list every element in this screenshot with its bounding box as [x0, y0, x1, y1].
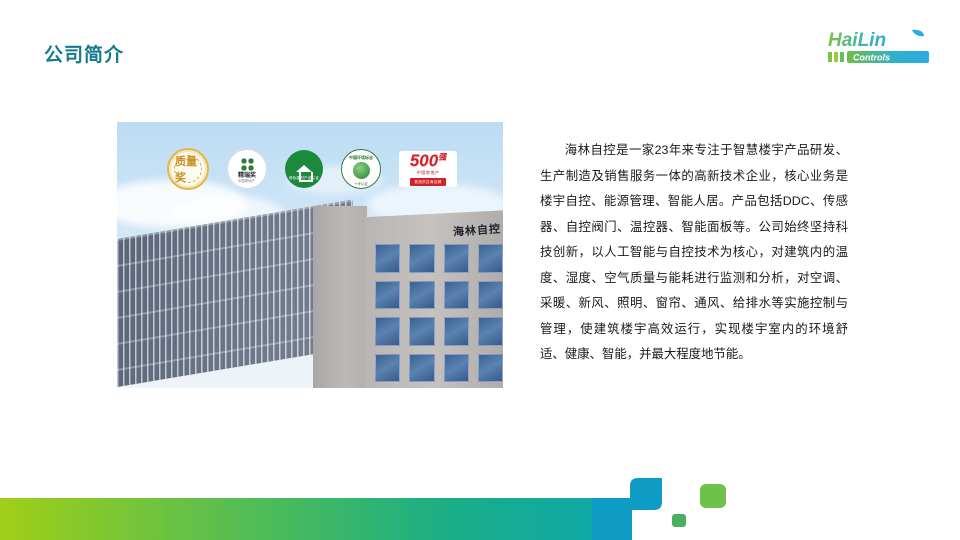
footer-accent-square-small [672, 514, 686, 527]
top-500-badge-subtext: 中国房地产 [417, 170, 440, 176]
page-title: 公司简介 [44, 40, 124, 67]
gold-award-badge: 质量奖 [167, 148, 209, 190]
building-right-wing: 海林自控 [365, 210, 503, 388]
green-building-product-badge: 绿色建材产品认证 [285, 150, 323, 188]
hailin-controls-logo: HaiLin Controls [820, 26, 946, 70]
gold-award-badge-label: 质量奖 [174, 155, 202, 183]
environment-label-badge-label: 中国环境标志 [349, 155, 373, 161]
environment-label-badge-caption: 十环认证 [354, 181, 368, 186]
company-building-photo: 海林自控 质量奖 精瑞奖 中国房地产 [117, 122, 503, 388]
footer-decoration [0, 460, 960, 540]
logo-bars [828, 52, 844, 62]
footer-gradient-bar [0, 498, 600, 540]
logo-sub-wordmark: Controls [853, 53, 890, 63]
quality-brand-badge: 精瑞奖 中国房地产 [227, 149, 267, 189]
certification-badge-row: 质量奖 精瑞奖 中国房地产 绿色建材产品认证 [167, 148, 457, 190]
globe-icon [353, 162, 370, 179]
top-500-badge-ribbon: 首选供应商品牌 [410, 178, 445, 186]
top-500-badge: 500强 中国房地产 首选供应商品牌 [399, 151, 457, 187]
building-core [313, 206, 367, 388]
top-500-badge-number: 500 [410, 151, 438, 170]
building-signage: 海林自控 [453, 220, 502, 239]
footer-accent-square-green [700, 484, 726, 508]
quality-brand-badge-caption: 中国房地产 [238, 180, 256, 183]
house-icon [296, 165, 312, 172]
environment-label-badge: 中国环境标志 十环认证 [341, 149, 381, 189]
top-500-badge-superscript: 强 [438, 152, 446, 161]
quality-brand-badge-mark [241, 158, 254, 171]
company-intro-paragraph: 海林自控是一家23年来专注于智慧楼宇产品研发、生产制造及销售服务一体的高新技术企… [540, 138, 848, 368]
slide-canvas: 公司简介 HaiLin [0, 0, 960, 540]
logo-wordmark: HaiLin [828, 30, 886, 51]
footer-step-shape [600, 478, 662, 540]
window-grid [375, 244, 503, 382]
